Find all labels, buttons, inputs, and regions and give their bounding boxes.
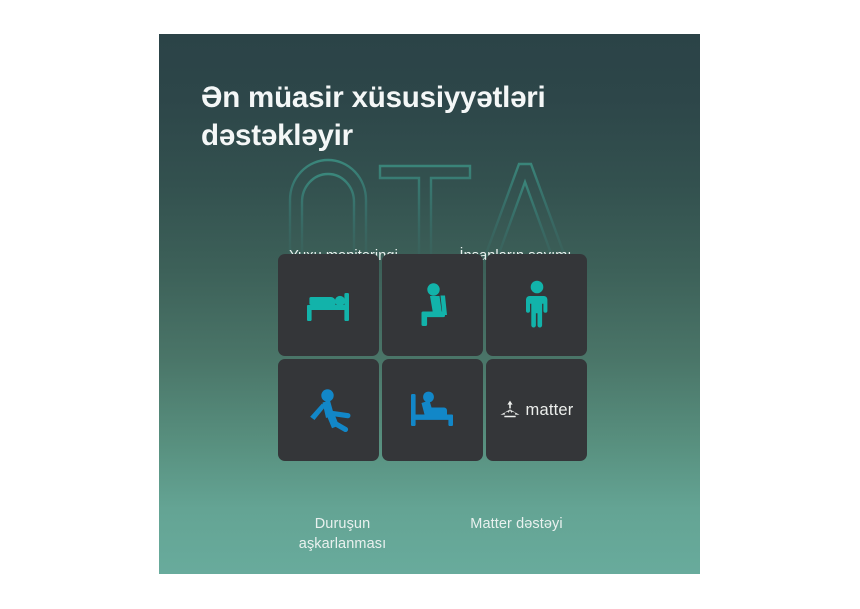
tile-matter-support[interactable]: matter	[486, 359, 587, 461]
tile-sleep-in-bed[interactable]	[278, 254, 379, 356]
tile-person-standing[interactable]	[486, 254, 587, 356]
label-matter-support: Matter dəstəyi	[442, 514, 592, 534]
person-sitting-up-in-bed-icon	[407, 388, 459, 432]
tile-sitting-up-in-bed[interactable]	[382, 359, 483, 461]
tile-fall-detection[interactable]	[278, 359, 379, 461]
person-falling-icon	[303, 388, 355, 432]
bottom-feature-labels: Duruşun aşkarlanması Matter dəstəyi	[159, 514, 700, 554]
person-standing-icon	[521, 280, 553, 330]
matter-mark-icon	[500, 400, 520, 420]
feature-panel: Ən müasir xüsusiyyətləri dəstəkləyir Yux…	[159, 34, 700, 574]
page-title: Ən müasir xüsusiyyətləri dəstəkləyir	[201, 79, 641, 155]
tile-sitting-posture[interactable]	[382, 254, 483, 356]
feature-icon-grid: matter	[278, 254, 587, 461]
matter-wordmark: matter	[526, 401, 574, 420]
person-lying-in-bed-icon	[303, 285, 355, 325]
label-posture-detection: Duruşun aşkarlanması	[268, 514, 418, 554]
screenshot-canvas: Ən müasir xüsusiyyətləri dəstəkləyir Yux…	[0, 0, 860, 609]
person-sitting-on-chair-icon	[411, 282, 455, 328]
matter-logo: matter	[500, 400, 574, 420]
